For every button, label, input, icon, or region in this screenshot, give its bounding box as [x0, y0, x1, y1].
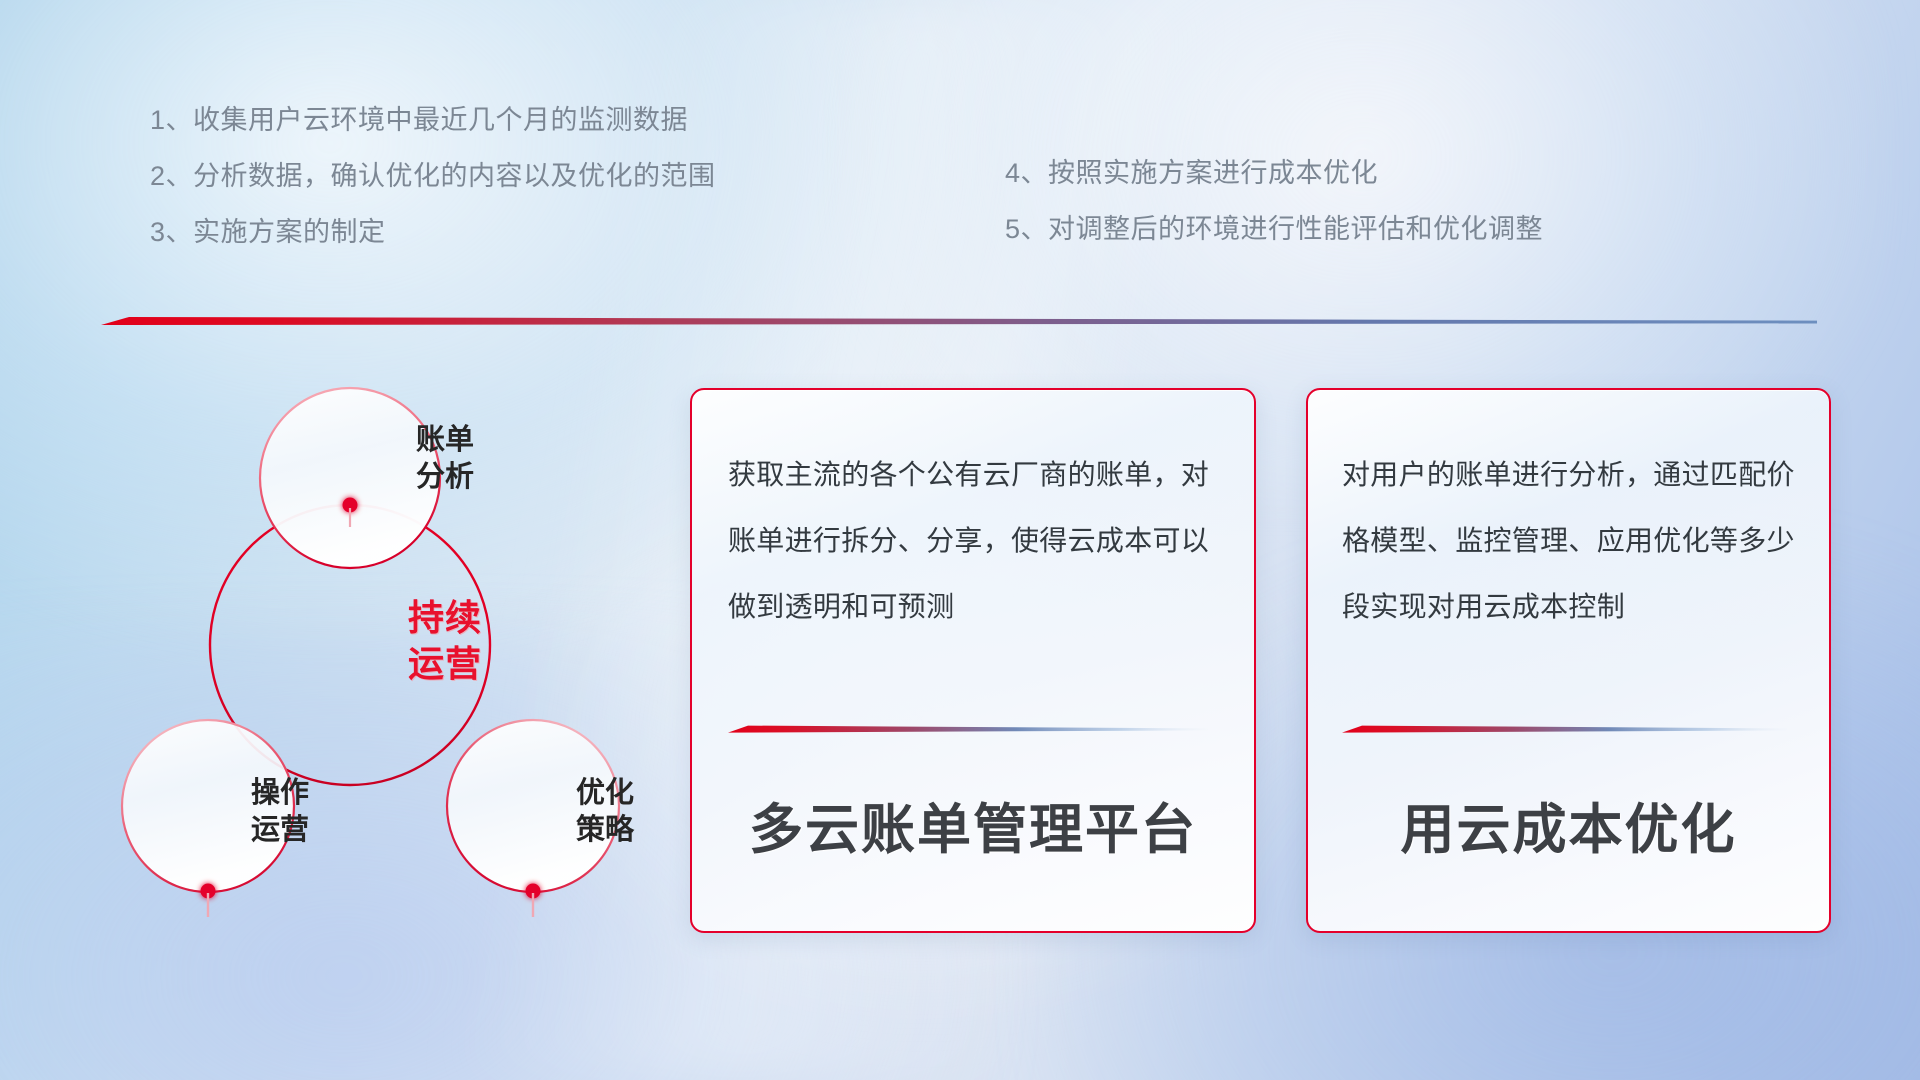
- section-divider: [101, 315, 1817, 327]
- steps-left-column: 1、收集用户云环境中最近几个月的监测数据 2、分析数据，确认优化的内容以及优化的…: [150, 92, 716, 260]
- venn-label-bill-analysis-line2: 分析: [375, 459, 515, 496]
- card-2-divider: [1342, 724, 1787, 734]
- step-item-2: 2、分析数据，确认优化的内容以及优化的范围: [150, 148, 716, 204]
- venn-label-operations-line2: 运营: [210, 812, 350, 849]
- card-1-title: 多云账单管理平台: [692, 785, 1254, 864]
- venn-label-optimization-strategy-line1: 优化: [535, 775, 675, 812]
- slide-content: 1、收集用户云环境中最近几个月的监测数据 2、分析数据，确认优化的内容以及优化的…: [0, 0, 1920, 1080]
- card-2-title: 用云成本优化: [1308, 785, 1829, 864]
- card-multi-cloud-billing-platform[interactable]: 获取主流的各个公有云厂商的账单，对账单进行拆分、分享，使得云成本可以做到透明和可…: [690, 388, 1256, 933]
- step-item-1: 1、收集用户云环境中最近几个月的监测数据: [150, 92, 716, 148]
- venn-label-operations: 操作 运营: [210, 775, 350, 849]
- steps-right-column: 4、按照实施方案进行成本优化 5、对调整后的环境进行性能评估和优化调整: [1005, 145, 1543, 257]
- card-cloud-cost-optimization[interactable]: 对用户的账单进行分析，通过匹配价格模型、监控管理、应用优化等多少段实现对用云成本…: [1306, 388, 1831, 933]
- card-2-body-text: 对用户的账单进行分析，通过匹配价格模型、监控管理、应用优化等多少段实现对用云成本…: [1308, 442, 1829, 640]
- venn-center-label-line2: 运营: [350, 641, 540, 687]
- venn-label-optimization-strategy: 优化 策略: [535, 775, 675, 849]
- venn-label-optimization-strategy-line2: 策略: [535, 812, 675, 849]
- venn-label-operations-line1: 操作: [210, 775, 350, 812]
- card-1-divider: [728, 724, 1208, 734]
- venn-label-bill-analysis: 账单 分析: [375, 422, 515, 496]
- venn-label-bill-analysis-line1: 账单: [375, 422, 515, 459]
- venn-center-label-line1: 持续: [350, 595, 540, 641]
- step-item-3: 3、实施方案的制定: [150, 204, 716, 260]
- venn-center-label: 持续 运营: [350, 595, 540, 687]
- step-item-5: 5、对调整后的环境进行性能评估和优化调整: [1005, 201, 1543, 257]
- step-item-4: 4、按照实施方案进行成本优化: [1005, 145, 1543, 201]
- card-1-body-text: 获取主流的各个公有云厂商的账单，对账单进行拆分、分享，使得云成本可以做到透明和可…: [692, 442, 1254, 640]
- venn-diagram: 账单 分析 操作 运营 优化 策略 持续 运营: [95, 345, 655, 945]
